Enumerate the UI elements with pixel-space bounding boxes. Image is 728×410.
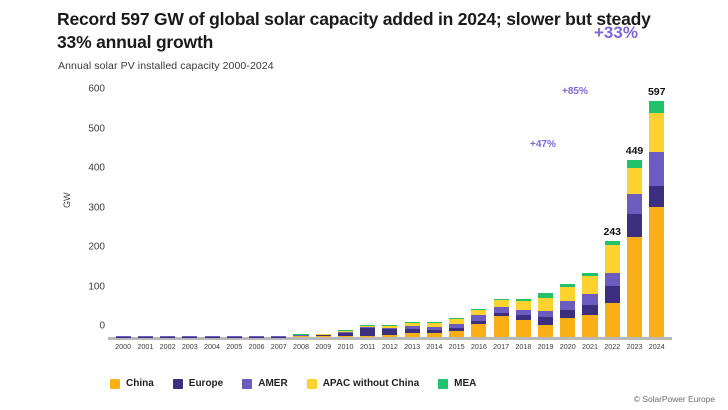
bar-column[interactable]: 5972024: [646, 100, 668, 337]
stacked-bar[interactable]: [293, 334, 308, 337]
y-axis-tick: 200: [88, 242, 105, 253]
x-axis-tick: 2005: [226, 342, 242, 351]
x-axis-tick: 2014: [426, 342, 442, 351]
bar-column[interactable]: 2006: [245, 100, 267, 337]
stacked-bar[interactable]: 597: [649, 101, 664, 337]
bar-column[interactable]: 2009: [312, 100, 334, 337]
bar-column[interactable]: 2432022: [601, 100, 623, 337]
bar-total-label: 597: [648, 86, 666, 98]
bar-segment-china[interactable]: [427, 333, 442, 337]
bar-series-container: 2000200120022003200420052006200720082009…: [112, 100, 668, 337]
stacked-bar[interactable]: [449, 318, 464, 337]
stacked-bar[interactable]: [249, 336, 264, 338]
bar-segment-europe[interactable]: [605, 286, 620, 302]
growth-annotation-2024: +33%: [594, 23, 638, 43]
bar-segment-europe[interactable]: [538, 317, 553, 325]
bar-column[interactable]: 2018: [512, 100, 534, 337]
bar-segment-amer[interactable]: [582, 294, 597, 305]
x-axis-line: [108, 337, 672, 340]
y-axis-tick: 600: [88, 84, 105, 95]
bar-segment-mea[interactable]: [627, 160, 642, 168]
bar-segment-europe[interactable]: [560, 310, 575, 318]
legend-item-china[interactable]: China: [110, 378, 154, 389]
bar-segment-europe[interactable]: [160, 337, 175, 338]
stacked-bar[interactable]: [405, 322, 420, 337]
stacked-bar[interactable]: [227, 336, 242, 338]
bar-segment-europe[interactable]: [138, 337, 153, 338]
legend-label: AMER: [258, 378, 287, 389]
stacked-bar[interactable]: [382, 325, 397, 337]
stacked-bar[interactable]: [138, 336, 153, 338]
stacked-bar[interactable]: 243: [605, 241, 620, 337]
bar-segment-europe[interactable]: [205, 337, 220, 338]
stacked-bar[interactable]: [271, 336, 286, 338]
x-axis-tick: 2007: [271, 342, 287, 351]
bar-segment-amer[interactable]: [538, 311, 553, 318]
y-axis-tick: 300: [88, 202, 105, 213]
bar-column[interactable]: 2011: [357, 100, 379, 337]
bar-column[interactable]: 2001: [134, 100, 156, 337]
bar-column[interactable]: 2004: [201, 100, 223, 337]
bar-column[interactable]: 2014: [423, 100, 445, 337]
x-axis-tick: 2024: [649, 342, 665, 351]
x-axis-tick: 2017: [493, 342, 509, 351]
bar-segment-apac-without-china[interactable]: [560, 287, 575, 300]
stacked-bar[interactable]: [538, 293, 553, 337]
stacked-bar[interactable]: [316, 334, 331, 337]
chart-page: Record 597 GW of global solar capacity a…: [0, 0, 728, 410]
x-axis-tick: 2012: [382, 342, 398, 351]
bar-column[interactable]: 2002: [156, 100, 178, 337]
legend-label: APAC without China: [323, 378, 419, 389]
legend-swatch-icon: [242, 379, 252, 389]
bar-segment-apac-without-china[interactable]: [605, 245, 620, 273]
bar-segment-china[interactable]: [494, 316, 509, 337]
bar-segment-europe[interactable]: [182, 337, 197, 338]
bar-total-label: 243: [604, 226, 622, 238]
bar-column[interactable]: 4492023: [623, 100, 645, 337]
x-axis-tick: 2018: [515, 342, 531, 351]
y-axis-tick: 500: [88, 123, 105, 134]
legend-swatch-icon: [110, 379, 120, 389]
x-axis-tick: 2019: [538, 342, 554, 351]
bar-segment-europe[interactable]: [116, 337, 131, 338]
x-axis-tick: 2010: [337, 342, 353, 351]
stacked-bar[interactable]: [205, 336, 220, 338]
bar-column[interactable]: 2021: [579, 100, 601, 337]
stacked-bar[interactable]: [516, 299, 531, 337]
bar-segment-china[interactable]: [316, 336, 331, 337]
bar-column[interactable]: 2019: [534, 100, 556, 337]
x-axis-tick: 2023: [627, 342, 643, 351]
legend-label: MEA: [454, 378, 476, 389]
chart-legend: ChinaEuropeAMERAPAC without ChinaMEA: [110, 378, 476, 389]
bar-segment-europe[interactable]: [649, 186, 664, 207]
legend-label: China: [126, 378, 154, 389]
stacked-bar[interactable]: [338, 330, 353, 337]
x-axis-tick: 2008: [293, 342, 309, 351]
bar-segment-china[interactable]: [560, 318, 575, 337]
bar-segment-china[interactable]: [293, 336, 308, 337]
bar-column[interactable]: 2017: [490, 100, 512, 337]
x-axis-tick: 2020: [560, 342, 576, 351]
stacked-bar[interactable]: [360, 325, 375, 337]
legend-swatch-icon: [438, 379, 448, 389]
bar-column[interactable]: 2020: [557, 100, 579, 337]
x-axis-tick: 2001: [137, 342, 153, 351]
bar-segment-mea[interactable]: [649, 101, 664, 113]
y-axis-tick: 100: [88, 281, 105, 292]
bar-column[interactable]: 2013: [401, 100, 423, 337]
bar-segment-apac-without-china[interactable]: [627, 168, 642, 195]
bar-segment-europe[interactable]: [582, 305, 597, 315]
legend-label: Europe: [189, 378, 223, 389]
bar-column[interactable]: 2010: [334, 100, 356, 337]
stacked-bar[interactable]: 449: [627, 160, 642, 337]
bar-segment-apac-without-china[interactable]: [494, 300, 509, 307]
stacked-bar[interactable]: [182, 336, 197, 338]
x-axis-tick: 2002: [160, 342, 176, 351]
x-axis-tick: 2013: [404, 342, 420, 351]
y-axis-tick: 0: [99, 321, 105, 332]
bar-segment-china[interactable]: [360, 336, 375, 337]
bar-segment-china[interactable]: [627, 237, 642, 337]
bar-segment-amer[interactable]: [649, 152, 664, 186]
page-title: Record 597 GW of global solar capacity a…: [57, 8, 657, 54]
bar-segment-apac-without-china[interactable]: [538, 298, 553, 311]
bar-segment-china[interactable]: [649, 207, 664, 337]
legend-item-mea[interactable]: MEA: [438, 378, 476, 389]
legend-swatch-icon: [173, 379, 183, 389]
source-credit: © SolarPower Europe: [634, 394, 715, 404]
growth-annotation-2023: +85%: [562, 86, 588, 97]
bar-segment-apac-without-china[interactable]: [516, 301, 531, 310]
x-axis-tick: 2000: [115, 342, 131, 351]
bar-column[interactable]: 2016: [468, 100, 490, 337]
bar-column[interactable]: 2000: [112, 100, 134, 337]
bar-segment-china[interactable]: [516, 320, 531, 337]
x-axis-tick: 2006: [249, 342, 265, 351]
legend-swatch-icon: [307, 379, 317, 389]
stacked-bar[interactable]: [471, 309, 486, 337]
stacked-bar[interactable]: [116, 336, 131, 338]
bar-segment-europe[interactable]: [249, 337, 264, 338]
bar-segment-europe[interactable]: [271, 337, 286, 338]
chart-subtitle: Annual solar PV installed capacity 2000-…: [58, 60, 274, 72]
bar-segment-china[interactable]: [471, 324, 486, 337]
stacked-bar[interactable]: [560, 284, 575, 337]
bar-segment-china[interactable]: [449, 331, 464, 337]
x-axis-tick: 2022: [604, 342, 620, 351]
bar-segment-china[interactable]: [382, 335, 397, 337]
y-axis-label: GW: [62, 193, 72, 209]
bar-column[interactable]: 2005: [223, 100, 245, 337]
bar-column[interactable]: 2003: [179, 100, 201, 337]
bar-segment-apac-without-china[interactable]: [582, 276, 597, 293]
stacked-bar[interactable]: [160, 336, 175, 338]
legend-item-europe[interactable]: Europe: [173, 378, 223, 389]
bar-segment-china[interactable]: [405, 333, 420, 337]
legend-item-amer[interactable]: AMER: [242, 378, 287, 389]
bar-segment-china[interactable]: [538, 325, 553, 337]
x-axis-tick: 2021: [582, 342, 598, 351]
bar-column[interactable]: 2012: [379, 100, 401, 337]
y-axis-tick: 400: [88, 163, 105, 174]
bar-segment-amer[interactable]: [605, 273, 620, 286]
bar-column[interactable]: 2007: [268, 100, 290, 337]
stacked-bar[interactable]: [427, 322, 442, 337]
bar-segment-china[interactable]: [338, 336, 353, 337]
x-axis-tick: 2016: [471, 342, 487, 351]
stacked-bar[interactable]: [582, 273, 597, 337]
x-axis-tick: 2011: [360, 342, 375, 351]
bar-segment-amer[interactable]: [560, 301, 575, 310]
bar-column[interactable]: 2008: [290, 100, 312, 337]
bar-segment-china[interactable]: [582, 315, 597, 337]
stacked-bar[interactable]: [494, 299, 509, 337]
bar-segment-apac-without-china[interactable]: [649, 113, 664, 152]
x-axis-tick: 2009: [315, 342, 331, 351]
bar-segment-china[interactable]: [605, 303, 620, 337]
x-axis-tick: 2003: [182, 342, 198, 351]
bar-column[interactable]: 2015: [446, 100, 468, 337]
legend-item-apac-without-china[interactable]: APAC without China: [307, 378, 419, 389]
bar-segment-europe[interactable]: [227, 337, 242, 338]
x-axis-tick: 2015: [449, 342, 465, 351]
bar-segment-europe[interactable]: [360, 328, 375, 336]
bar-total-label: 449: [626, 145, 644, 157]
bar-segment-europe[interactable]: [627, 214, 642, 237]
bar-segment-amer[interactable]: [627, 194, 642, 214]
plot-area: 0100200300400500600 +47%+85%+33% 2000200…: [112, 100, 668, 340]
x-axis-tick: 2004: [204, 342, 220, 351]
